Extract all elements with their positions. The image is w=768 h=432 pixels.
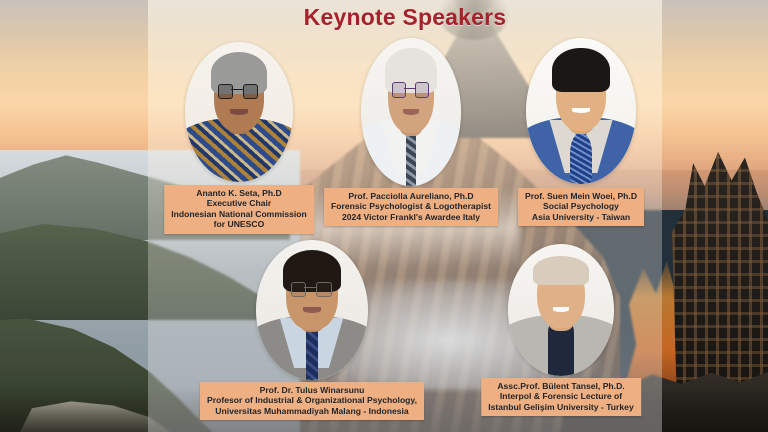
patterned-scarf — [570, 134, 592, 184]
speaker-5-line-3: Istanbul Gelişim University - Turkey — [488, 402, 634, 412]
speaker-5-photo — [508, 244, 614, 376]
speaker-2-line-2: Forensic Psychologist & Logotherapist — [331, 201, 491, 211]
speaker-1-line-3: Indonesian National Commission — [171, 209, 307, 219]
speaker-2-caption: Prof. Pacciolla Aureliano, Ph.D Forensic… — [324, 188, 498, 226]
page-title: Keynote Speakers — [148, 4, 662, 31]
speaker-2-photo — [361, 38, 461, 186]
speaker-5-caption: Assc.Prof. Bülent Tansel, Ph.D. Interpol… — [481, 378, 641, 416]
speaker-5-line-2: Interpol & Forensic Lecture of — [488, 391, 634, 401]
speaker-4-caption: Prof. Dr. Tulus Winarsunu Profesor of In… — [200, 382, 424, 420]
speaker-3-line-3: Asia University - Taiwan — [525, 212, 637, 222]
speaker-2-line-3: 2024 Victor Frankl's Awardee Italy — [331, 212, 491, 222]
speaker-3-line-1: Prof. Suen Mein Woei, Ph.D — [525, 191, 637, 201]
speaker-1-caption: Ananto K. Seta, Ph.D Executive Chair Ind… — [164, 185, 314, 234]
speaker-4-line-2: Profesor of Industrial & Organizational … — [207, 395, 417, 405]
speaker-1-line-1: Ananto K. Seta, Ph.D — [171, 188, 307, 198]
speaker-4-line-3: Universitas Muhammadiyah Malang - Indone… — [207, 406, 417, 416]
navy-striped-tie — [306, 327, 317, 380]
slide-canvas: Keynote Speakers Ananto K. Seta, — [0, 0, 768, 432]
speaker-1-photo — [185, 42, 293, 182]
speaker-4-line-1: Prof. Dr. Tulus Winarsunu — [207, 385, 417, 395]
speaker-1-line-4: for UNESCO — [171, 219, 307, 229]
speaker-1-line-2: Executive Chair — [171, 198, 307, 208]
striped-tie — [406, 130, 416, 186]
slide-content: Keynote Speakers Ananto K. Seta, — [0, 0, 768, 432]
speaker-2-line-1: Prof. Pacciolla Aureliano, Ph.D — [331, 191, 491, 201]
speaker-4-photo — [256, 240, 368, 380]
speaker-3-line-2: Social Psychology — [525, 201, 637, 211]
speaker-5-line-1: Assc.Prof. Bülent Tansel, Ph.D. — [488, 381, 634, 391]
speaker-3-photo — [526, 38, 636, 184]
navy-shirt — [548, 323, 573, 376]
speaker-3-caption: Prof. Suen Mein Woei, Ph.D Social Psycho… — [518, 188, 644, 226]
